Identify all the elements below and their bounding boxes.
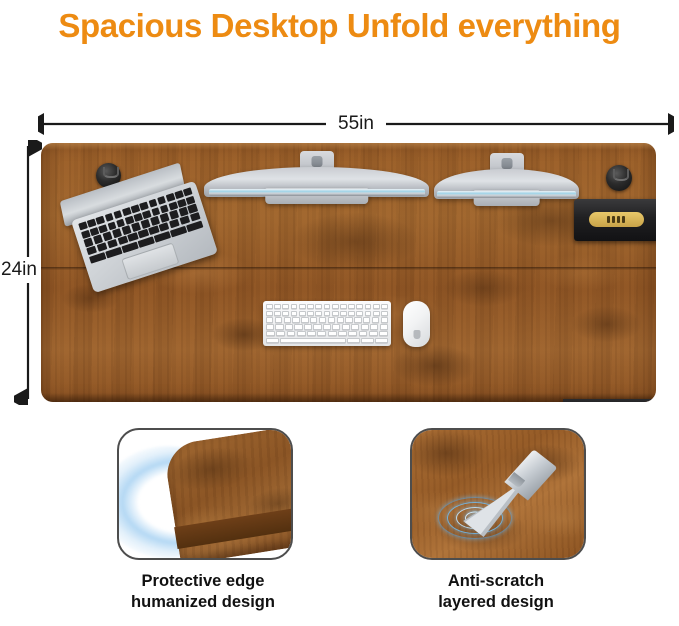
- width-dimension-label: 55in: [0, 110, 679, 138]
- wireless-mouse: [403, 301, 430, 347]
- monitor-screen-edge: [437, 191, 576, 198]
- width-dimension-value: 55in: [326, 113, 386, 135]
- dock-label-plate: [589, 212, 643, 226]
- feature-anti-scratch: Anti-scratch layered design: [410, 428, 596, 613]
- laptop: [66, 165, 220, 293]
- wireless-keyboard: [263, 301, 391, 346]
- power-dock: [574, 199, 656, 241]
- desktop-surface: [41, 143, 656, 402]
- feature-protective-edge: Protective edge humanized design: [117, 428, 303, 613]
- monitor-large: [204, 151, 429, 207]
- feature-caption-protective-edge: Protective edge humanized design: [103, 571, 303, 613]
- monitor-screen-edge: [209, 189, 425, 196]
- desk-top-edge-highlight: [41, 143, 656, 150]
- height-control-panel: [563, 399, 655, 402]
- cable-grommet-icon: [606, 165, 632, 191]
- page-title: Spacious Desktop Unfold everything: [0, 0, 679, 52]
- feature-caption-line2: humanized design: [103, 592, 303, 613]
- feature-image-anti-scratch: [410, 428, 586, 560]
- monitor-small: [434, 153, 579, 207]
- feature-caption-line1: Anti-scratch: [396, 571, 596, 592]
- feature-caption-line2: layered design: [396, 592, 596, 613]
- feature-image-protective-edge: [117, 428, 293, 560]
- height-dimension-value: 24in: [0, 257, 38, 283]
- feature-caption-anti-scratch: Anti-scratch layered design: [396, 571, 596, 613]
- feature-caption-line1: Protective edge: [103, 571, 303, 592]
